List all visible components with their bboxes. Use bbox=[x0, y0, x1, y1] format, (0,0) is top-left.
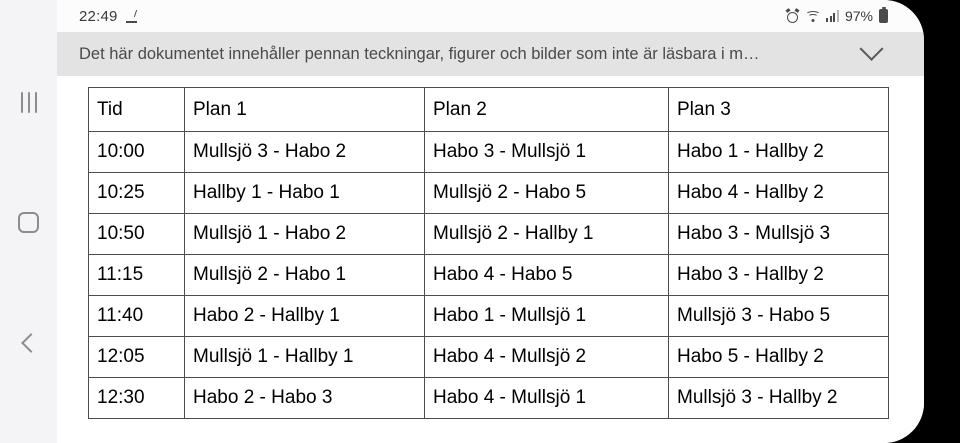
table-row: 12:05 Mullsjö 1 - Hallby 1 Habo 4 - Mull… bbox=[89, 337, 889, 378]
cell-plan-2: Mullsjö 2 - Habo 5 bbox=[425, 173, 669, 214]
home-icon bbox=[18, 212, 39, 233]
cell-time: 10:00 bbox=[89, 132, 185, 173]
cell-time: 11:40 bbox=[89, 296, 185, 337]
table-header-row: Tid Plan 1 Plan 2 Plan 3 bbox=[89, 88, 889, 132]
recents-icon bbox=[21, 92, 37, 113]
home-button[interactable] bbox=[0, 199, 57, 245]
screen-surface: 22:49 97% Det här dokumentet innehåller … bbox=[0, 0, 924, 443]
battery-full-icon bbox=[879, 9, 888, 23]
table-row: 11:15 Mullsjö 2 - Habo 1 Habo 4 - Habo 5… bbox=[89, 255, 889, 296]
cell-plan-3: Habo 5 - Hallby 2 bbox=[669, 337, 889, 378]
cell-plan-2: Habo 4 - Mullsjö 1 bbox=[425, 378, 669, 419]
cellular-signal-icon bbox=[826, 10, 839, 22]
cell-plan-3: Habo 4 - Hallby 2 bbox=[669, 173, 889, 214]
cell-plan-1: Hallby 1 - Habo 1 bbox=[185, 173, 425, 214]
cell-plan-2: Habo 3 - Mullsjö 1 bbox=[425, 132, 669, 173]
table-row: 12:30 Habo 2 - Habo 3 Habo 4 - Mullsjö 1… bbox=[89, 378, 889, 419]
recents-button[interactable] bbox=[0, 79, 57, 125]
cell-plan-1: Mullsjö 3 - Habo 2 bbox=[185, 132, 425, 173]
cell-plan-1: Habo 2 - Habo 3 bbox=[185, 378, 425, 419]
cell-plan-2: Habo 4 - Habo 5 bbox=[425, 255, 669, 296]
match-schedule-table: Tid Plan 1 Plan 2 Plan 3 10:00 Mullsjö 3… bbox=[88, 87, 889, 419]
cell-plan-1: Habo 2 - Hallby 1 bbox=[185, 296, 425, 337]
table-row: 10:50 Mullsjö 1 - Habo 2 Mullsjö 2 - Hal… bbox=[89, 214, 889, 255]
cell-time: 11:15 bbox=[89, 255, 185, 296]
cell-time: 12:05 bbox=[89, 337, 185, 378]
column-header-tid: Tid bbox=[89, 88, 185, 132]
cell-time: 10:50 bbox=[89, 214, 185, 255]
cell-plan-3: Mullsjö 3 - Hallby 2 bbox=[669, 378, 889, 419]
status-clock: 22:49 bbox=[79, 8, 118, 25]
table-row: 11:40 Habo 2 - Hallby 1 Habo 1 - Mullsjö… bbox=[89, 296, 889, 337]
cell-plan-3: Habo 3 - Hallby 2 bbox=[669, 255, 889, 296]
cell-plan-1: Mullsjö 2 - Habo 1 bbox=[185, 255, 425, 296]
cell-plan-1: Mullsjö 1 - Habo 2 bbox=[185, 214, 425, 255]
chevron-down-icon[interactable] bbox=[859, 36, 883, 60]
cell-plan-2: Habo 1 - Mullsjö 1 bbox=[425, 296, 669, 337]
cell-time: 12:30 bbox=[89, 378, 185, 419]
cell-plan-3: Habo 1 - Hallby 2 bbox=[669, 132, 889, 173]
document-viewport[interactable]: Tid Plan 1 Plan 2 Plan 3 10:00 Mullsjö 3… bbox=[57, 76, 924, 443]
banner-message: Det här dokumentet innehåller pennan tec… bbox=[79, 45, 760, 64]
back-button[interactable] bbox=[0, 320, 57, 366]
document-warning-banner[interactable]: Det här dokumentet innehåller pennan tec… bbox=[57, 32, 924, 76]
cell-plan-3: Mullsjö 3 - Habo 5 bbox=[669, 296, 889, 337]
cell-plan-3: Habo 3 - Mullsjö 3 bbox=[669, 214, 889, 255]
back-icon bbox=[21, 333, 41, 353]
column-header-plan-2: Plan 2 bbox=[425, 88, 669, 132]
status-bar: 22:49 97% bbox=[57, 0, 924, 32]
column-header-plan-3: Plan 3 bbox=[669, 88, 889, 132]
cell-time: 10:25 bbox=[89, 173, 185, 214]
cell-plan-1: Mullsjö 1 - Hallby 1 bbox=[185, 337, 425, 378]
cell-plan-2: Habo 4 - Mullsjö 2 bbox=[425, 337, 669, 378]
table-row: 10:25 Hallby 1 - Habo 1 Mullsjö 2 - Habo… bbox=[89, 173, 889, 214]
status-indicators: 97% bbox=[786, 8, 888, 24]
alarm-clock-icon bbox=[786, 10, 799, 23]
wifi-icon bbox=[805, 10, 820, 22]
download-arrow-icon bbox=[126, 10, 139, 23]
battery-percent-label: 97% bbox=[845, 8, 873, 24]
android-navigation-bar bbox=[0, 0, 57, 443]
device-screen: 22:49 97% Det här dokumentet innehåller … bbox=[0, 0, 960, 443]
cell-plan-2: Mullsjö 2 - Hallby 1 bbox=[425, 214, 669, 255]
column-header-plan-1: Plan 1 bbox=[185, 88, 425, 132]
table-row: 10:00 Mullsjö 3 - Habo 2 Habo 3 - Mullsj… bbox=[89, 132, 889, 173]
